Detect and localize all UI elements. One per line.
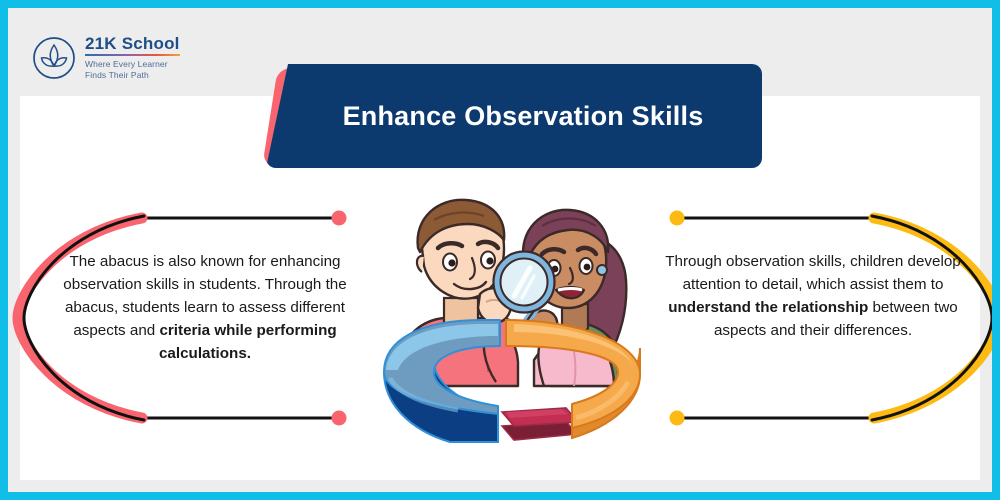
panel-left: The abacus is also known for enhancing o… [26,204,374,432]
logo-tagline: Where Every Learner Finds Their Path [85,59,180,82]
title-banner: Enhance Observation Skills [258,62,768,172]
right-panel-text: Through observation skills, children dev… [648,250,978,342]
logo-tagline-line2: Finds Their Path [85,70,149,80]
left-dot-top [332,211,347,226]
infographic-root: 21K School Where Every Learner Finds The… [0,0,1000,500]
right-dot-top [670,211,685,226]
banner-body: Enhance Observation Skills [266,64,762,168]
left-dot-bottom [332,411,347,426]
inner-frame: 21K School Where Every Learner Finds The… [8,8,992,492]
right-dot-bottom [670,411,685,426]
logo-tagline-line1: Where Every Learner [85,59,168,69]
logo-name: 21K School [85,35,180,54]
panel-right: Through observation skills, children dev… [642,204,990,432]
left-panel-text: The abacus is also known for enhancing o… [40,250,370,365]
lotus-circle-icon [32,36,76,80]
illustration-two-children-donut [376,186,648,458]
left-text-bold-1: criteria while performing calculations. [159,322,337,362]
brand-logo[interactable]: 21K School Where Every Learner Finds The… [32,35,180,82]
page-title: Enhance Observation Skills [325,101,704,132]
logo-gradient-rule [85,54,180,56]
logo-text-block: 21K School Where Every Learner Finds The… [85,35,180,82]
right-text-bold-1: understand the relationship [668,299,868,316]
right-text-plain-1: Through observation skills, children dev… [665,253,960,293]
